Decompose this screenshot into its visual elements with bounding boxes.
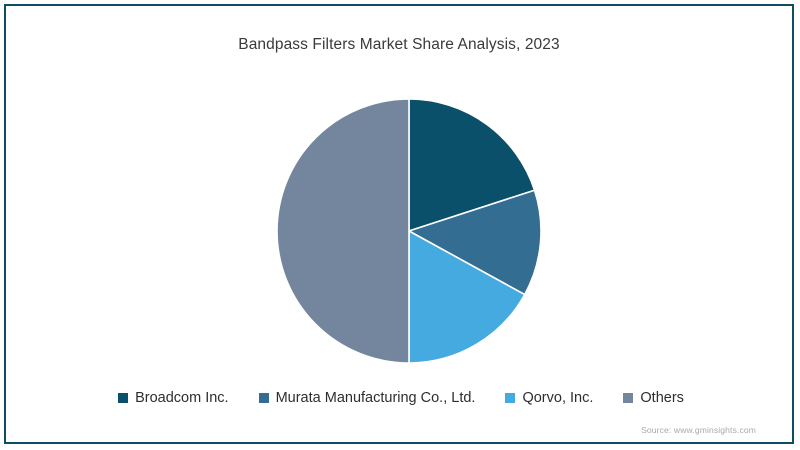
pie-slice[interactable]: [409, 99, 535, 231]
pie-slice[interactable]: [409, 231, 525, 363]
legend-item-murata[interactable]: Murata Manufacturing Co., Ltd.: [259, 390, 476, 406]
chart-frame: Bandpass Filters Market Share Analysis, …: [4, 4, 794, 444]
pie-slice[interactable]: [409, 190, 541, 294]
legend-item-label: Murata Manufacturing Co., Ltd.: [276, 390, 476, 406]
pie-slice-group: [277, 99, 541, 363]
legend-item-label: Broadcom Inc.: [135, 390, 229, 406]
legend-item-qorvo[interactable]: Qorvo, Inc.: [505, 390, 593, 406]
legend-swatch-icon: [505, 393, 515, 403]
legend-item-label: Others: [640, 390, 684, 406]
legend-item-others[interactable]: Others: [623, 390, 684, 406]
legend-item-broadcom[interactable]: Broadcom Inc.: [118, 390, 229, 406]
legend-swatch-icon: [259, 393, 269, 403]
pie-chart-svg: [269, 91, 549, 371]
chart-legend: Broadcom Inc. Murata Manufacturing Co., …: [6, 390, 796, 406]
legend-item-label: Qorvo, Inc.: [522, 390, 593, 406]
chart-title: Bandpass Filters Market Share Analysis, …: [6, 36, 792, 54]
source-attribution: Source: www.gminsights.com: [641, 425, 756, 435]
legend-swatch-icon: [623, 393, 633, 403]
legend-swatch-icon: [118, 393, 128, 403]
pie-slice[interactable]: [277, 99, 409, 363]
pie-chart-area: [6, 6, 796, 446]
